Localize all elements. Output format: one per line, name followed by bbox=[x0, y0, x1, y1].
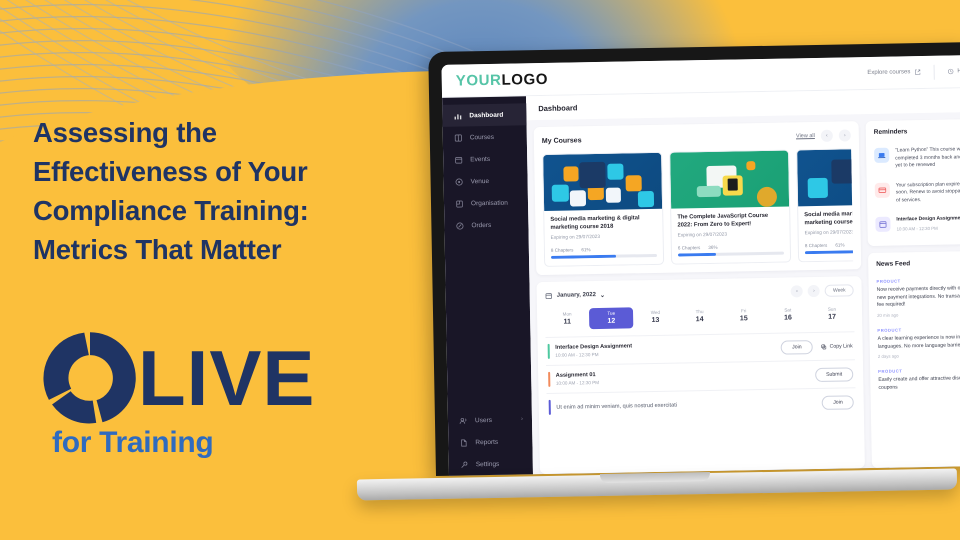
day-number: 13 bbox=[633, 317, 677, 325]
course-progress-bar bbox=[678, 252, 784, 257]
calendar-day[interactable]: Thu14 bbox=[677, 306, 722, 328]
sidebar-label-venue: Venue bbox=[471, 177, 490, 184]
course-title: Social media marketing & digital marketi… bbox=[550, 214, 656, 233]
reminder-text: Your subscription plan expires soon. Ren… bbox=[896, 181, 960, 205]
news-text: Now receive payments directly with our n… bbox=[877, 285, 960, 310]
course-meta: 8 Chapters 61% bbox=[551, 246, 657, 253]
app-brand-logo[interactable]: YOURLOGO bbox=[456, 70, 549, 89]
explore-courses-link[interactable]: Explore courses bbox=[867, 69, 920, 76]
logo-wordmark: LIVE bbox=[138, 326, 315, 430]
calendar-card: January, 2022 ⌄ ‹ › Week bbox=[536, 276, 864, 474]
sidebar-label-reports: Reports bbox=[475, 438, 498, 445]
event-name: Assignment 01 bbox=[556, 372, 599, 379]
course-title: Social media marketing & digital marketi… bbox=[804, 209, 853, 228]
calendar-icon bbox=[875, 217, 890, 232]
headline-line-4: Metrics That Matter bbox=[33, 230, 433, 269]
reminder-item[interactable]: Interface Design Assignment 10:30 AM - 1… bbox=[875, 209, 960, 238]
course-percent: 36% bbox=[708, 245, 717, 250]
calendar-day[interactable]: Mon11 bbox=[545, 308, 590, 330]
news-feed-item[interactable]: PRODUCT Easily create and offer attracti… bbox=[878, 362, 960, 397]
olive-ring-icon bbox=[38, 326, 142, 430]
day-name: Wed bbox=[633, 310, 677, 316]
sidebar-label-courses: Courses bbox=[470, 133, 494, 140]
calendar-day[interactable]: Sat16 bbox=[766, 304, 811, 326]
explore-courses-label: Explore courses bbox=[867, 69, 910, 76]
calendar-month-selector[interactable]: January, 2022 ⌄ bbox=[545, 291, 605, 300]
event-actions: Join Copy Link bbox=[781, 339, 853, 354]
app-body: Dashboard Courses Events Venue bbox=[442, 88, 960, 476]
course-expiry: Expiring on 29/07/2023 bbox=[805, 229, 854, 236]
sidebar-label-users: Users bbox=[475, 416, 492, 423]
thumb-tile bbox=[570, 190, 586, 206]
main-content: Dashboard My Courses View all bbox=[526, 88, 960, 476]
laptop-screen: YOURLOGO Explore courses bbox=[441, 55, 960, 476]
my-courses-controls: View all ‹ › bbox=[796, 129, 851, 142]
topbar-actions: Explore courses Help bbox=[867, 64, 960, 81]
calendar-view-select[interactable]: Week bbox=[825, 284, 854, 297]
sidebar-label-orders: Orders bbox=[471, 221, 491, 228]
course-title: The Complete JavaScript Course 2022: Fro… bbox=[677, 212, 783, 231]
reminder-time: 10:30 AM - 12:30 PM bbox=[896, 225, 960, 231]
event-name: Interface Design Assignment bbox=[555, 343, 632, 350]
sidebar-item-events[interactable]: Events bbox=[443, 147, 527, 171]
thumb-seal bbox=[757, 187, 777, 207]
my-courses-card: My Courses View all ‹ › bbox=[534, 121, 862, 275]
sidebar-item-venue[interactable]: Venue bbox=[443, 169, 527, 193]
card-glyph bbox=[878, 185, 887, 194]
reminder-text: “Learn Python” This course was completed… bbox=[895, 146, 960, 170]
olive-logo: LIVE for Training bbox=[38, 326, 315, 460]
event-info: Ut enim ad minim veniam, quis nostrud ex… bbox=[556, 402, 677, 410]
reminder-text: Interface Design Assignment bbox=[896, 215, 960, 224]
calendar-next-button[interactable]: › bbox=[808, 285, 820, 297]
course-expiry: Expiring on 29/07/2023 bbox=[551, 234, 657, 241]
sidebar-label-events: Events bbox=[470, 155, 490, 162]
logo-tagline: for Training bbox=[52, 426, 315, 460]
sidebar-item-reports[interactable]: Reports bbox=[448, 430, 532, 454]
event-time: 10:00 AM - 12:30 PM bbox=[556, 380, 599, 386]
day-number: 11 bbox=[545, 318, 589, 326]
news-text: Easily create and offer attractive disco… bbox=[878, 375, 960, 392]
headline-line-1: Assessing the bbox=[33, 113, 433, 152]
calendar-controls: ‹ › Week bbox=[791, 284, 854, 297]
page-title: Dashboard bbox=[538, 103, 577, 113]
course-chapters: 8 Chapters bbox=[551, 247, 574, 252]
course-card-body: The Complete JavaScript Course 2022: Fro… bbox=[671, 206, 790, 263]
event-name: Ut enim ad minim veniam, quis nostrud ex… bbox=[556, 402, 677, 410]
event-info: Interface Design Assignment 10:00 AM - 1… bbox=[555, 343, 632, 357]
course-thumbnail bbox=[543, 153, 662, 211]
course-card-body: Social media marketing & digital marketi… bbox=[544, 209, 663, 266]
reminder-text-wrap: “Learn Python” This course was completed… bbox=[895, 146, 960, 170]
calendar-prev-button[interactable]: ‹ bbox=[791, 285, 803, 297]
news-feed-item[interactable]: PRODUCT A clear learning experience is n… bbox=[877, 321, 960, 364]
reminder-text-wrap: Interface Design Assignment 10:30 AM - 1… bbox=[896, 215, 960, 231]
course-card[interactable]: The Complete JavaScript Course 2022: Fro… bbox=[669, 149, 791, 264]
day-name: Fri bbox=[722, 308, 766, 314]
thumb-tile bbox=[552, 185, 569, 202]
bar-chart-icon bbox=[453, 111, 462, 120]
news-text: A clear learning experience is now in 12… bbox=[878, 334, 960, 351]
day-name: Tue bbox=[589, 310, 633, 316]
sidebar-spacer bbox=[445, 235, 532, 410]
course-card-list: Social media marketing & digital marketi… bbox=[542, 148, 853, 267]
headline-line-2: Effectiveness of Your bbox=[33, 152, 433, 191]
thumb-tile-media bbox=[579, 162, 605, 188]
thumb-tile bbox=[638, 191, 654, 207]
brand-part-2: LOGO bbox=[501, 70, 548, 88]
headline-line-3: Compliance Training: bbox=[33, 191, 433, 230]
news-time: 2 days ago bbox=[878, 352, 960, 359]
day-number: 17 bbox=[810, 313, 854, 321]
day-name: Thu bbox=[677, 309, 721, 315]
location-icon bbox=[455, 177, 464, 186]
course-thumbnail bbox=[670, 150, 789, 208]
day-number: 14 bbox=[678, 316, 722, 324]
calendar-month-label: January, 2022 bbox=[557, 292, 596, 299]
news-tag: PRODUCT bbox=[876, 277, 960, 284]
course-card-body: Social media marketing & digital marketi… bbox=[798, 204, 853, 261]
users-icon bbox=[459, 416, 468, 425]
clock-icon bbox=[947, 68, 953, 74]
thumb-tile bbox=[831, 159, 853, 183]
calendar-day[interactable]: Sun17 bbox=[810, 303, 855, 325]
courses-next-button[interactable]: › bbox=[839, 129, 851, 141]
join-button[interactable]: Join bbox=[822, 395, 854, 410]
event-actions: Join bbox=[822, 395, 854, 410]
help-link[interactable]: Help bbox=[947, 68, 960, 74]
page-headline: Assessing the Effectiveness of Your Comp… bbox=[33, 113, 433, 269]
day-number: 15 bbox=[722, 315, 766, 323]
course-progress-bar bbox=[805, 249, 853, 254]
course-card[interactable]: Social media marketing & digital marketi… bbox=[796, 148, 853, 262]
thumb-tile bbox=[746, 161, 755, 170]
document-icon bbox=[459, 438, 468, 447]
course-chapters: 6 Chapters bbox=[678, 245, 701, 250]
dashboard-columns: My Courses View all ‹ › bbox=[526, 112, 960, 476]
chevron-down-icon: ⌄ bbox=[600, 291, 605, 298]
thumb-tile bbox=[606, 188, 621, 203]
course-card[interactable]: Social media marketing & digital marketi… bbox=[542, 152, 664, 267]
sidebar-label-dashboard: Dashboard bbox=[469, 111, 503, 119]
my-courses-header: My Courses View all ‹ › bbox=[542, 129, 851, 147]
event-color-bar bbox=[548, 344, 550, 359]
dashboard-right-column: Reminders “Learn Python” This course was… bbox=[866, 119, 960, 468]
reminder-item[interactable]: “Learn Python” This course was completed… bbox=[874, 140, 960, 176]
laptop-learning-icon bbox=[874, 148, 889, 163]
course-percent: 61% bbox=[581, 247, 590, 252]
news-tag: PRODUCT bbox=[878, 367, 960, 374]
laptop-base bbox=[332, 468, 960, 522]
course-progress-fill bbox=[805, 250, 853, 254]
building-icon bbox=[455, 199, 464, 208]
news-feed-card: News Feed PRODUCT Now receive payments d… bbox=[868, 251, 960, 468]
course-thumbnail bbox=[797, 148, 853, 206]
calendar-icon bbox=[454, 155, 463, 164]
thumb-tile bbox=[808, 178, 828, 198]
tag-icon bbox=[455, 221, 464, 230]
copy-link-button[interactable]: Copy Link bbox=[821, 343, 853, 350]
logo-row: LIVE bbox=[38, 326, 315, 430]
thumb-tile bbox=[697, 186, 721, 197]
day-number: 12 bbox=[589, 317, 633, 325]
chevron-right-icon: › bbox=[521, 416, 523, 422]
calendar-week-strip: Mon11 Tue12 Wed13 Thu14 Fri15 Sat16 Sun1… bbox=[545, 303, 854, 330]
calendar-header: January, 2022 ⌄ ‹ › Week bbox=[545, 284, 854, 302]
thumb-tile bbox=[626, 175, 642, 191]
calendar-day[interactable]: Fri15 bbox=[721, 305, 766, 327]
topbar-divider bbox=[933, 64, 934, 79]
dashboard-left-column: My Courses View all ‹ › bbox=[534, 121, 865, 474]
laptop-lid: YOURLOGO Explore courses bbox=[428, 42, 960, 476]
reminder-text-wrap: Your subscription plan expires soon. Ren… bbox=[896, 181, 960, 205]
course-percent: 61% bbox=[835, 242, 844, 247]
sidebar-item-organisation[interactable]: Organisation bbox=[444, 191, 528, 215]
calendar-day-selected[interactable]: Tue12 bbox=[589, 307, 634, 329]
external-link-icon bbox=[914, 69, 920, 75]
reminders-title: Reminders bbox=[874, 127, 960, 136]
calendar-day[interactable]: Wed13 bbox=[633, 307, 678, 329]
day-number: 16 bbox=[766, 314, 810, 322]
sidebar-label-settings: Settings bbox=[476, 460, 500, 467]
copy-icon bbox=[821, 343, 827, 349]
course-meta: 6 Chapters 36% bbox=[678, 244, 784, 251]
sidebar-item-courses[interactable]: Courses bbox=[443, 125, 527, 149]
view-all-link[interactable]: View all bbox=[796, 133, 815, 139]
news-feed-title: News Feed bbox=[876, 259, 960, 268]
book-icon bbox=[454, 133, 463, 142]
thumb-js-letters bbox=[728, 178, 738, 190]
news-feed-item[interactable]: PRODUCT Now receive payments directly wi… bbox=[876, 272, 960, 323]
course-meta: 8 Chapters 61% bbox=[805, 241, 853, 248]
course-chapters: 8 Chapters bbox=[805, 243, 828, 248]
sidebar-label-organisation: Organisation bbox=[471, 199, 508, 207]
copy-link-label: Copy Link bbox=[830, 343, 853, 349]
thumb-tile bbox=[607, 164, 623, 180]
day-name: Sat bbox=[766, 307, 810, 313]
laptop-glyph bbox=[877, 151, 886, 160]
day-name: Mon bbox=[545, 311, 589, 317]
thumb-tile bbox=[563, 166, 578, 181]
event-time: 10:00 AM - 12:30 PM bbox=[555, 351, 632, 357]
my-courses-title: My Courses bbox=[542, 137, 582, 145]
course-progress-bar bbox=[551, 254, 657, 259]
news-time: 20 min ago bbox=[877, 311, 960, 318]
credit-card-icon bbox=[875, 182, 890, 197]
app-sidebar: Dashboard Courses Events Venue bbox=[442, 96, 533, 476]
course-progress-fill bbox=[551, 255, 616, 259]
calendar-glyph bbox=[878, 220, 887, 229]
course-expiry: Expiring on 29/07/2023 bbox=[678, 232, 784, 239]
reminder-item[interactable]: Your subscription plan expires soon. Ren… bbox=[875, 175, 960, 211]
brand-part-1: YOUR bbox=[456, 71, 502, 89]
sidebar-item-dashboard[interactable]: Dashboard bbox=[442, 103, 526, 127]
event-color-bar bbox=[548, 372, 550, 387]
event-color-bar bbox=[549, 400, 551, 415]
course-progress-fill bbox=[678, 253, 716, 257]
sidebar-item-orders[interactable]: Orders bbox=[444, 213, 528, 237]
news-tag: PRODUCT bbox=[877, 326, 960, 333]
submit-button[interactable]: Submit bbox=[815, 367, 853, 382]
calendar-event-row: Ut enim ad minim veniam, quis nostrud ex… bbox=[546, 387, 855, 421]
sidebar-item-users[interactable]: Users › bbox=[448, 408, 532, 432]
join-button[interactable]: Join bbox=[781, 340, 813, 355]
day-name: Sun bbox=[810, 306, 854, 312]
courses-prev-button[interactable]: ‹ bbox=[821, 130, 833, 142]
event-actions: Submit bbox=[815, 367, 853, 382]
event-info: Assignment 01 10:00 AM - 12:30 PM bbox=[556, 372, 599, 386]
calendar-icon bbox=[545, 292, 553, 300]
reminders-card: Reminders “Learn Python” This course was… bbox=[866, 119, 960, 246]
